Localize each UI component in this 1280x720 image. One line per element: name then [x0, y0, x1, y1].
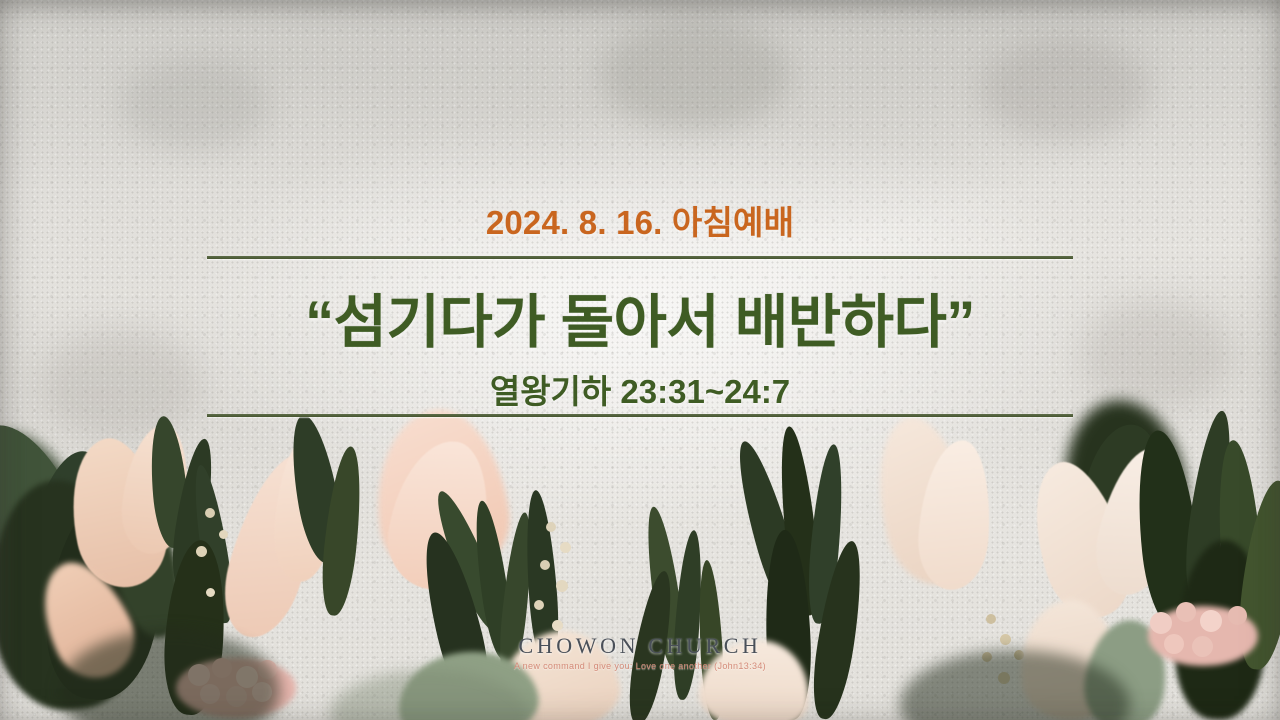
- worship-title-slide: 2024. 8. 16. 아침예배 “섬기다가 돌아서 배반하다” 열왕기하 2…: [0, 0, 1280, 720]
- vignette-overlay: [0, 0, 1280, 720]
